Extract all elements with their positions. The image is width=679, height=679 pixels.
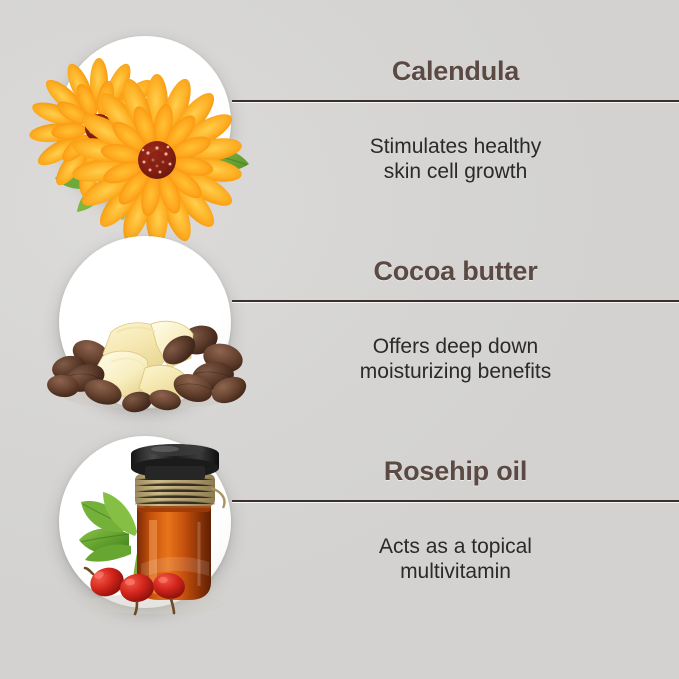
calendula-flowers-photo — [59, 36, 231, 208]
ingredient-title: Cocoa butter — [232, 258, 679, 285]
benefit-line-2: multivitamin — [232, 560, 679, 585]
ingredient-benefits-infographic: Calendula Stimulates healthy skin cell g… — [0, 0, 679, 679]
ingredient-benefit: Stimulates healthy skin cell growth — [232, 110, 679, 209]
calendula-disc-clip — [59, 36, 231, 208]
calendula-text-column: Calendula Stimulates healthy skin cell g… — [232, 22, 679, 232]
ingredient-benefit: Offers deep down moisturizing benefits — [232, 310, 679, 409]
ingredient-title: Rosehip oil — [232, 458, 679, 485]
title-divider-rule — [232, 100, 679, 102]
ingredient-row-calendula: Calendula Stimulates healthy skin cell g… — [0, 22, 679, 232]
rosehip-oil-text-column: Rosehip oil Acts as a topical multivitam… — [232, 422, 679, 637]
ingredient-row-rosehip-oil: Rosehip oil Acts as a topical multivitam… — [0, 422, 679, 637]
ingredient-row-cocoa-butter: Cocoa butter Offers deep down moisturizi… — [0, 222, 679, 432]
cocoa-butter-disc-clip — [59, 236, 231, 408]
benefit-line-1: Stimulates healthy — [370, 135, 542, 158]
rosehip-disc-clip — [59, 436, 231, 608]
ingredient-benefit: Acts as a topical multivitamin — [232, 510, 679, 609]
benefit-line-2: skin cell growth — [232, 160, 679, 185]
cocoa-butter-text-column: Cocoa butter Offers deep down moisturizi… — [232, 222, 679, 432]
title-divider-rule — [232, 500, 679, 502]
cocoa-butter-photo — [59, 236, 231, 408]
rosehip-oil-photo — [59, 436, 231, 608]
benefit-line-2: moisturizing benefits — [232, 360, 679, 385]
ingredient-title: Calendula — [232, 58, 679, 85]
title-divider-rule — [232, 300, 679, 302]
benefit-line-1: Offers deep down — [373, 335, 538, 358]
benefit-line-1: Acts as a topical — [379, 535, 532, 558]
